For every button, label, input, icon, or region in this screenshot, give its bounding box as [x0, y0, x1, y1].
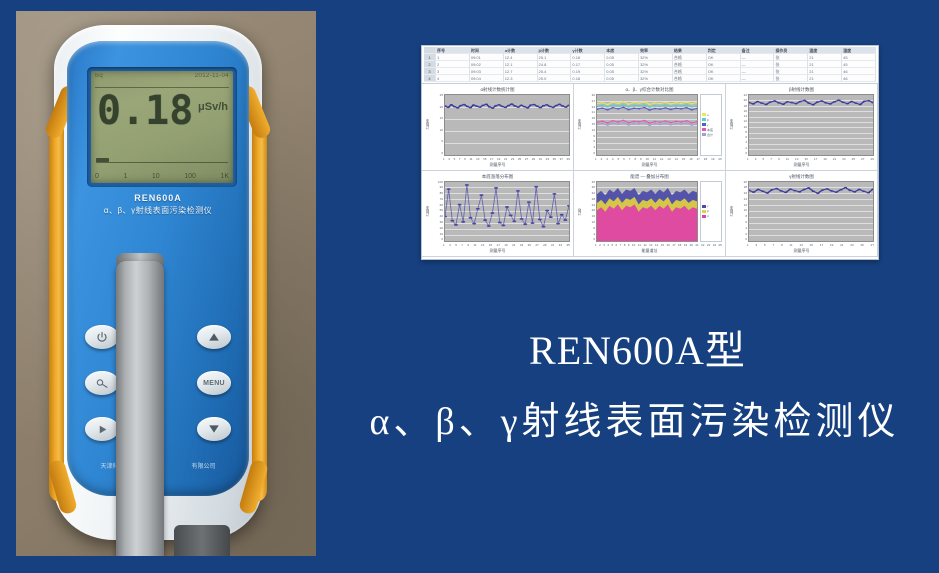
spreadsheet-cell: 张	[774, 68, 808, 75]
spreadsheet-row: 4409:0412.325.00.180.0532%合格OK—张2146	[424, 75, 876, 82]
mini-chart-ytick: 6	[582, 140, 595, 144]
spreadsheet-cell: OK	[707, 61, 741, 68]
lcd-bargraph-fill	[96, 158, 109, 162]
mini-chart-body: 计数率20181614121086420	[729, 181, 874, 243]
mini-chart-ytick: 9	[582, 135, 595, 139]
mini-chart-body: 计数率2220181614121086420	[729, 94, 874, 156]
lcd-bezel: Bq 2012-11-04 0.18 μSv/h 0 1 10	[87, 67, 237, 187]
mini-chart-ytick: 50	[430, 209, 443, 213]
spreadsheet-cell: 判定	[707, 47, 741, 54]
spreadsheet-cell: 12.3	[504, 75, 538, 82]
spreadsheet-cell: —	[741, 68, 775, 75]
mini-chart-xlabel: 能量道址	[577, 248, 722, 254]
spreadsheet-row: 1109:0112.425.10.180.0532%合格OK—张2145	[424, 54, 876, 61]
legend-series-label: 本底	[707, 128, 713, 132]
spreadsheet-cell: 张	[774, 61, 808, 68]
legend-series-label: α	[707, 113, 709, 117]
mini-chart-xlabel: 测量序号	[425, 162, 570, 168]
spreadsheet-row: 2209:0212.124.80.170.0532%合格OK—张2145	[424, 61, 876, 68]
mini-chart-ytick: 40	[430, 215, 443, 219]
spreadsheet-cell: 备注	[741, 47, 775, 54]
mini-chart-title: γ射线计数图	[729, 173, 874, 181]
mini-chart-ytick: 14	[734, 198, 747, 202]
device-nameplate: REN600A α、β、γ射线表面污染检测仪	[67, 193, 249, 216]
legend-series-label: β	[707, 118, 709, 122]
mini-chart: 能谱 — 叠加分布图计数4036322824201612840γβα123456…	[574, 171, 726, 258]
spreadsheet-cell: 张	[774, 54, 808, 61]
mini-chart-legend-item: γ	[702, 204, 720, 208]
mini-chart-legend-item: α	[702, 113, 720, 117]
mini-chart-plot	[748, 181, 874, 243]
mini-chart-ytick: 16	[734, 110, 747, 114]
legend-color-swatch	[702, 215, 706, 218]
mini-chart-ytick: 14	[734, 115, 747, 119]
lcd-scale: 0 1 10 100 1K	[95, 173, 229, 180]
mini-chart-legend-item: β	[702, 118, 720, 122]
mini-chart-ytick: 70	[430, 198, 443, 202]
lcd-scale-tick: 100	[184, 173, 196, 180]
mini-chart-ylabel: 计数率	[425, 94, 430, 156]
mini-chart-ytick: 100	[430, 181, 443, 185]
mini-chart: α、β、γ综合计数对比图计数率302724211815129630αβγ本底合计…	[574, 84, 726, 171]
mini-chart-ytick: 2	[734, 233, 747, 237]
spreadsheet-cell: 0.19	[571, 68, 605, 75]
mini-chart-ytick: 16	[582, 215, 595, 219]
spreadsheet-cell: —	[741, 54, 775, 61]
mini-chart-ytick: 16	[734, 192, 747, 196]
lcd-scale-tick: 10	[152, 173, 160, 180]
spreadsheet-cell: 合格	[673, 75, 707, 82]
spreadsheet-cell: 2	[436, 61, 470, 68]
spreadsheet-cell: 09:02	[470, 61, 504, 68]
spreadsheet-table: 序号时间α计数β计数γ计数本底效率结果判定备注操作员温度湿度1109:0112.…	[422, 46, 878, 84]
mini-chart-ytick: 80	[430, 192, 443, 196]
spreadsheet-cell: —	[741, 75, 775, 82]
mini-chart-legend-item: β	[702, 209, 720, 213]
spreadsheet-cell: 温度	[808, 47, 842, 54]
menu-button-label: MENU	[203, 380, 225, 387]
mini-chart-ytick: 4	[582, 233, 595, 237]
chevron-up-icon	[208, 332, 220, 342]
device-shell: Bq 2012-11-04 0.18 μSv/h 0 1 10	[54, 25, 262, 540]
spreadsheet-cell: 0.05	[605, 61, 639, 68]
spreadsheet-cell: 21	[808, 54, 842, 61]
spreadsheet-cell: 4	[436, 75, 470, 82]
spreadsheet-cell: 25.1	[538, 54, 572, 61]
product-description-title: α、β、γ射线表面污染检测仪	[330, 391, 939, 453]
spreadsheet-cell: 1	[436, 54, 470, 61]
mini-chart-ytick: 20	[734, 181, 747, 185]
spreadsheet-cell: —	[741, 61, 775, 68]
chevron-down-icon	[208, 424, 220, 434]
title-block: REN600A型 α、β、γ射线表面污染检测仪	[330, 325, 939, 453]
spreadsheet-cell: 21	[808, 68, 842, 75]
mini-chart-title: β射线计数图	[729, 86, 874, 94]
spreadsheet-cell: 张	[774, 75, 808, 82]
mini-chart-ytick: 21	[582, 111, 595, 115]
mini-chart-ylabel: 计数率	[577, 94, 582, 156]
mini-chart-legend-item: α	[702, 214, 720, 218]
mini-chart-ytick: 18	[582, 117, 595, 121]
legend-series-label: γ	[707, 204, 709, 208]
mini-chart-ylabel: 计数	[577, 181, 582, 243]
mini-chart-ytick: 6	[734, 221, 747, 225]
spreadsheet-cell: 序号	[436, 47, 470, 54]
spreadsheet-cell: 24.8	[538, 61, 572, 68]
spreadsheet-row: 3309:0312.725.40.190.0532%合格OK—张2146	[424, 68, 876, 75]
search-button[interactable]	[85, 371, 119, 395]
spreadsheet-row-header: 3	[424, 68, 436, 75]
mini-chart-ytick: 30	[430, 221, 443, 225]
device-model-label: REN600A	[67, 193, 249, 203]
spreadsheet-cell: 45	[842, 54, 876, 61]
lcd-reading-unit: μSv/h	[198, 101, 228, 113]
mini-chart-legend-item: 本底	[702, 128, 720, 132]
mini-chart: α射线计数统计图计数率25201510501357911131517192123…	[422, 84, 574, 171]
spreadsheet-cell: 结果	[673, 47, 707, 54]
mini-chart-xlabel: 测量序号	[729, 162, 874, 168]
device-handle	[116, 261, 164, 556]
mini-chart-ytick: 5	[430, 140, 443, 144]
spreadsheet-cell: 本底	[605, 47, 639, 54]
spreadsheet-cell: 09:03	[470, 68, 504, 75]
spreadsheet-cell: OK	[707, 75, 741, 82]
spreadsheet-cell: 32%	[639, 75, 673, 82]
mini-chart-ytick: 28	[582, 198, 595, 202]
spreadsheet-row-header: 1	[424, 54, 436, 61]
slide-canvas: Bq 2012-11-04 0.18 μSv/h 0 1 10	[0, 0, 939, 573]
spreadsheet-row-header: 2	[424, 61, 436, 68]
mini-chart-plot	[596, 181, 698, 243]
lcd-scale-tick: 1K	[220, 173, 229, 180]
spreadsheet-cell: 0.05	[605, 54, 639, 61]
legend-series-label: α	[707, 214, 709, 218]
down-button[interactable]	[197, 417, 231, 441]
spreadsheet-cell: 12.1	[504, 61, 538, 68]
mini-chart-title: 能谱 — 叠加分布图	[577, 173, 722, 181]
spreadsheet-cell: 0.17	[571, 61, 605, 68]
spreadsheet-cell: 46	[842, 68, 876, 75]
mini-chart-ylabel: 计数率	[729, 181, 734, 243]
mini-chart-ytick: 2	[734, 147, 747, 151]
spreadsheet-row-header	[424, 47, 436, 54]
lcd-scale-tick: 1	[123, 173, 127, 180]
mini-chart-ytick: 24	[582, 204, 595, 208]
lcd-status-bar: Bq 2012-11-04	[95, 73, 229, 79]
legend-series-label: 合计	[707, 133, 713, 137]
spreadsheet-cell: 32%	[639, 54, 673, 61]
spreadsheet-cell: 合格	[673, 54, 707, 61]
mini-chart-ytick: 32	[582, 192, 595, 196]
mini-chart-ytick: 30	[582, 94, 595, 98]
product-model-title: REN600A型	[330, 325, 939, 377]
mini-chart: 本底涨落分布图计数率100908070605040302010013579111…	[422, 171, 574, 258]
mini-chart-ytick: 18	[734, 105, 747, 109]
legend-color-swatch	[702, 118, 706, 121]
mini-chart-ytick: 4	[734, 141, 747, 145]
mini-chart-ytick: 20	[734, 99, 747, 103]
lcd-bargraph	[96, 158, 228, 163]
mini-chart-xlabel: 测量序号	[577, 162, 722, 168]
spreadsheet-cell: 12.4	[504, 54, 538, 61]
mini-chart-ytick: 22	[734, 94, 747, 98]
mini-chart-ytick: 40	[582, 181, 595, 185]
spreadsheet-cell: 0.18	[571, 54, 605, 61]
mini-chart-xlabel: 测量序号	[425, 248, 570, 254]
spreadsheet-cell: 21	[808, 75, 842, 82]
mini-chart-ytick: 10	[734, 209, 747, 213]
spreadsheet-cell: 09:01	[470, 54, 504, 61]
spreadsheet-cell: 21	[808, 61, 842, 68]
spreadsheet-cell: 操作员	[774, 47, 808, 54]
mini-chart-ytick: 25	[430, 94, 443, 98]
lcd-status-left: Bq	[95, 73, 103, 79]
magnifier-icon	[96, 378, 109, 389]
device-subtitle-label: α、β、γ射线表面污染检测仪	[67, 205, 249, 216]
spreadsheet-header-row: 序号时间α计数β计数γ计数本底效率结果判定备注操作员温度湿度	[424, 47, 876, 54]
mini-chart-title: 本底涨落分布图	[425, 173, 570, 181]
lcd-reading-value: 0.18	[97, 91, 193, 131]
spreadsheet-cell: 效率	[639, 47, 673, 54]
up-button[interactable]	[197, 325, 231, 349]
spreadsheet-cell: OK	[707, 68, 741, 75]
legend-color-swatch	[702, 205, 706, 208]
mini-chart-ytick: 4	[734, 227, 747, 231]
spreadsheet-cell: 45	[842, 61, 876, 68]
spreadsheet-cell: 32%	[639, 68, 673, 75]
mini-chart-yticks: 1009080706050403020100	[430, 181, 444, 243]
legend-color-swatch	[702, 113, 706, 116]
mini-chart-plot	[444, 181, 570, 243]
mini-chart-yticks: 20181614121086420	[734, 181, 748, 243]
mini-chart-body: 计数率302724211815129630αβγ本底合计	[577, 94, 722, 156]
spreadsheet-cell: 09:04	[470, 75, 504, 82]
mini-chart-yticks: 4036322824201612840	[582, 181, 596, 243]
spreadsheet-cell: 0.05	[605, 75, 639, 82]
spreadsheet-cell: OK	[707, 54, 741, 61]
mini-chart-yticks: 2220181614121086420	[734, 94, 748, 156]
legend-color-swatch	[702, 133, 706, 136]
power-icon	[96, 331, 108, 343]
lcd-status-right: 2012-11-04	[195, 73, 229, 79]
mini-chart-ytick: 3	[582, 146, 595, 150]
legend-color-swatch	[702, 128, 706, 131]
product-photo: Bq 2012-11-04 0.18 μSv/h 0 1 10	[16, 11, 316, 556]
mini-chart-ytick: 8	[734, 131, 747, 135]
spreadsheet-cell: 25.4	[538, 68, 572, 75]
device-grip-left	[49, 117, 64, 502]
spreadsheet-cell: 合格	[673, 61, 707, 68]
legend-series-label: γ	[707, 123, 709, 127]
spreadsheet-cell: 合格	[673, 68, 707, 75]
spreadsheet-cell: 12.7	[504, 68, 538, 75]
mini-chart-plot	[748, 94, 874, 156]
mini-chart-body: 计数率1009080706050403020100	[425, 181, 570, 243]
spreadsheet-cell: 25.0	[538, 75, 572, 82]
spreadsheet-cell: 湿度	[842, 47, 876, 54]
mini-chart-ylabel: 计数率	[425, 181, 430, 243]
mini-chart-ytick: 15	[582, 123, 595, 127]
device-grip-right	[252, 117, 267, 502]
mini-chart-yticks: 2520151050	[430, 94, 444, 156]
power-button[interactable]	[85, 325, 119, 349]
software-screenshot-panel: 序号时间α计数β计数γ计数本底效率结果判定备注操作员温度湿度1109:0112.…	[421, 45, 879, 260]
mini-chart-body: 计数率2520151050	[425, 94, 570, 156]
spreadsheet-cell: 时间	[470, 47, 504, 54]
mini-chart-ytick: 12	[582, 221, 595, 225]
mini-chart-ytick: 10	[430, 129, 443, 133]
mini-chart-ytick: 18	[734, 186, 747, 190]
mini-chart-ytick: 12	[734, 120, 747, 124]
spreadsheet-cell: 32%	[639, 61, 673, 68]
device-footer-right: 有限公司	[191, 461, 215, 470]
mini-chart-legend-item: γ	[702, 123, 720, 127]
menu-button[interactable]: MENU	[197, 371, 231, 395]
mini-chart-legend-item: 合计	[702, 133, 720, 137]
lcd-screen: Bq 2012-11-04 0.18 μSv/h 0 1 10	[91, 71, 233, 183]
mini-chart-body: 计数4036322824201612840γβα	[577, 181, 722, 243]
spreadsheet-cell: β计数	[538, 47, 572, 54]
mini-chart-ylabel: 计数率	[729, 94, 734, 156]
mini-chart-title: α射线计数统计图	[425, 86, 570, 94]
spreadsheet-cell: 0.05	[605, 68, 639, 75]
mini-chart-ytick: 12	[734, 204, 747, 208]
play-icon	[97, 424, 108, 435]
mini-chart: β射线计数图计数率2220181614121086420135791113151…	[726, 84, 878, 171]
spreadsheet-cell: 46	[842, 75, 876, 82]
chart-grid: α射线计数统计图计数率25201510501357911131517192123…	[422, 84, 878, 257]
spreadsheet-row-header: 4	[424, 75, 436, 82]
mini-chart-ytick: 8	[582, 227, 595, 231]
mini-chart-plot	[596, 94, 698, 156]
mini-chart-ytick: 36	[582, 186, 595, 190]
spreadsheet-cell: 3	[436, 68, 470, 75]
spreadsheet-cell: γ计数	[571, 47, 605, 54]
mini-chart-ytick: 24	[582, 106, 595, 110]
mini-chart-ytick: 27	[582, 100, 595, 104]
mini-chart-ytick: 10	[430, 233, 443, 237]
mini-chart-ytick: 20	[582, 209, 595, 213]
mini-chart-ytick: 20	[430, 227, 443, 231]
mini-chart-ytick: 15	[430, 117, 443, 121]
mini-chart: γ射线计数图计数率2018161412108642013579111315171…	[726, 171, 878, 258]
device-handle-foot	[174, 525, 230, 556]
mini-chart-ytick: 6	[734, 136, 747, 140]
legend-series-label: β	[707, 209, 709, 213]
mini-chart-title: α、β、γ综合计数对比图	[577, 86, 722, 94]
lcd-scale-tick: 0	[95, 173, 99, 180]
mini-chart-ytick: 8	[734, 215, 747, 219]
mini-chart-yticks: 302724211815129630	[582, 94, 596, 156]
mini-chart-plot	[444, 94, 570, 156]
mini-chart-legend: γβα	[700, 181, 722, 243]
mini-chart-ytick: 20	[430, 106, 443, 110]
spreadsheet-cell: 0.18	[571, 75, 605, 82]
mini-chart-ytick: 12	[582, 129, 595, 133]
mini-chart-legend: αβγ本底合计	[700, 94, 722, 156]
mini-chart-ytick: 10	[734, 126, 747, 130]
mini-chart-xlabel: 测量序号	[729, 248, 874, 254]
play-button[interactable]	[85, 417, 119, 441]
legend-color-swatch	[702, 210, 706, 213]
spreadsheet-cell: α计数	[504, 47, 538, 54]
mini-chart-ytick: 90	[430, 186, 443, 190]
mini-chart-ytick: 60	[430, 204, 443, 208]
legend-color-swatch	[702, 123, 706, 126]
